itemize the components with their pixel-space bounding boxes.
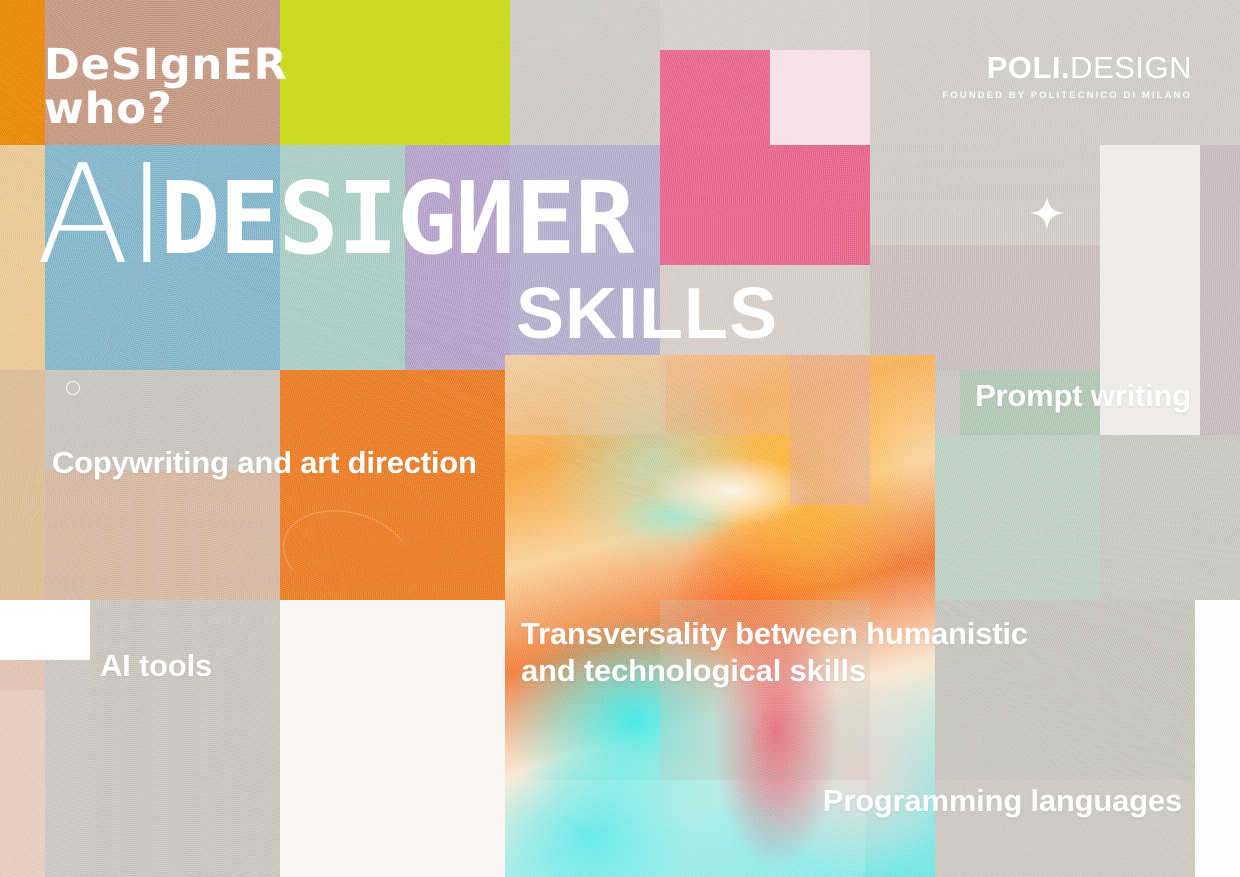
headline-group: AI DESIGNER SKILLS [36,160,1206,350]
headline-designer: DESIGNER [160,171,634,266]
kicker-text: DeSIgnER who? [44,44,288,132]
headline-designer-part2: ER [515,160,633,277]
headline-designer-part1: DESIG [160,160,456,277]
ring-icon [66,381,80,395]
skill-label-copywriting: Copywriting and art direction [52,445,477,482]
overlay-block-0 [660,355,790,435]
overlay-block-1 [790,355,870,505]
headline-designer-flipped-n: N [456,171,515,266]
logo-wordmark-bold: POLI. [987,50,1070,85]
skill-label-ai-tools: AI tools [100,648,212,685]
overlay-block-2 [505,355,665,435]
headline-ai: AI [36,160,164,272]
logo-wordmark-light: DESIGN [1070,50,1192,85]
skill-label-prompt-writing: Prompt writing [975,378,1191,415]
skill-label-transversality: Transversality between humanistic and te… [521,616,1028,689]
logo-subtitle: FOUNDED BY POLITECNICO DI MILANO [942,90,1192,101]
skill-label-programming: Programming languages [823,783,1182,820]
headline-skills: SKILLS [36,278,1206,350]
polidesign-logo: POLI.DESIGN FOUNDED BY POLITECNICO DI MI… [942,52,1192,101]
headline-row-one: AI DESIGNER [36,160,1206,272]
overlay-block-4 [505,780,865,877]
poster-canvas: DeSIgnER who? AI DESIGNER SKILLS Prompt … [0,0,1240,877]
logo-wordmark: POLI.DESIGN [942,52,1192,83]
